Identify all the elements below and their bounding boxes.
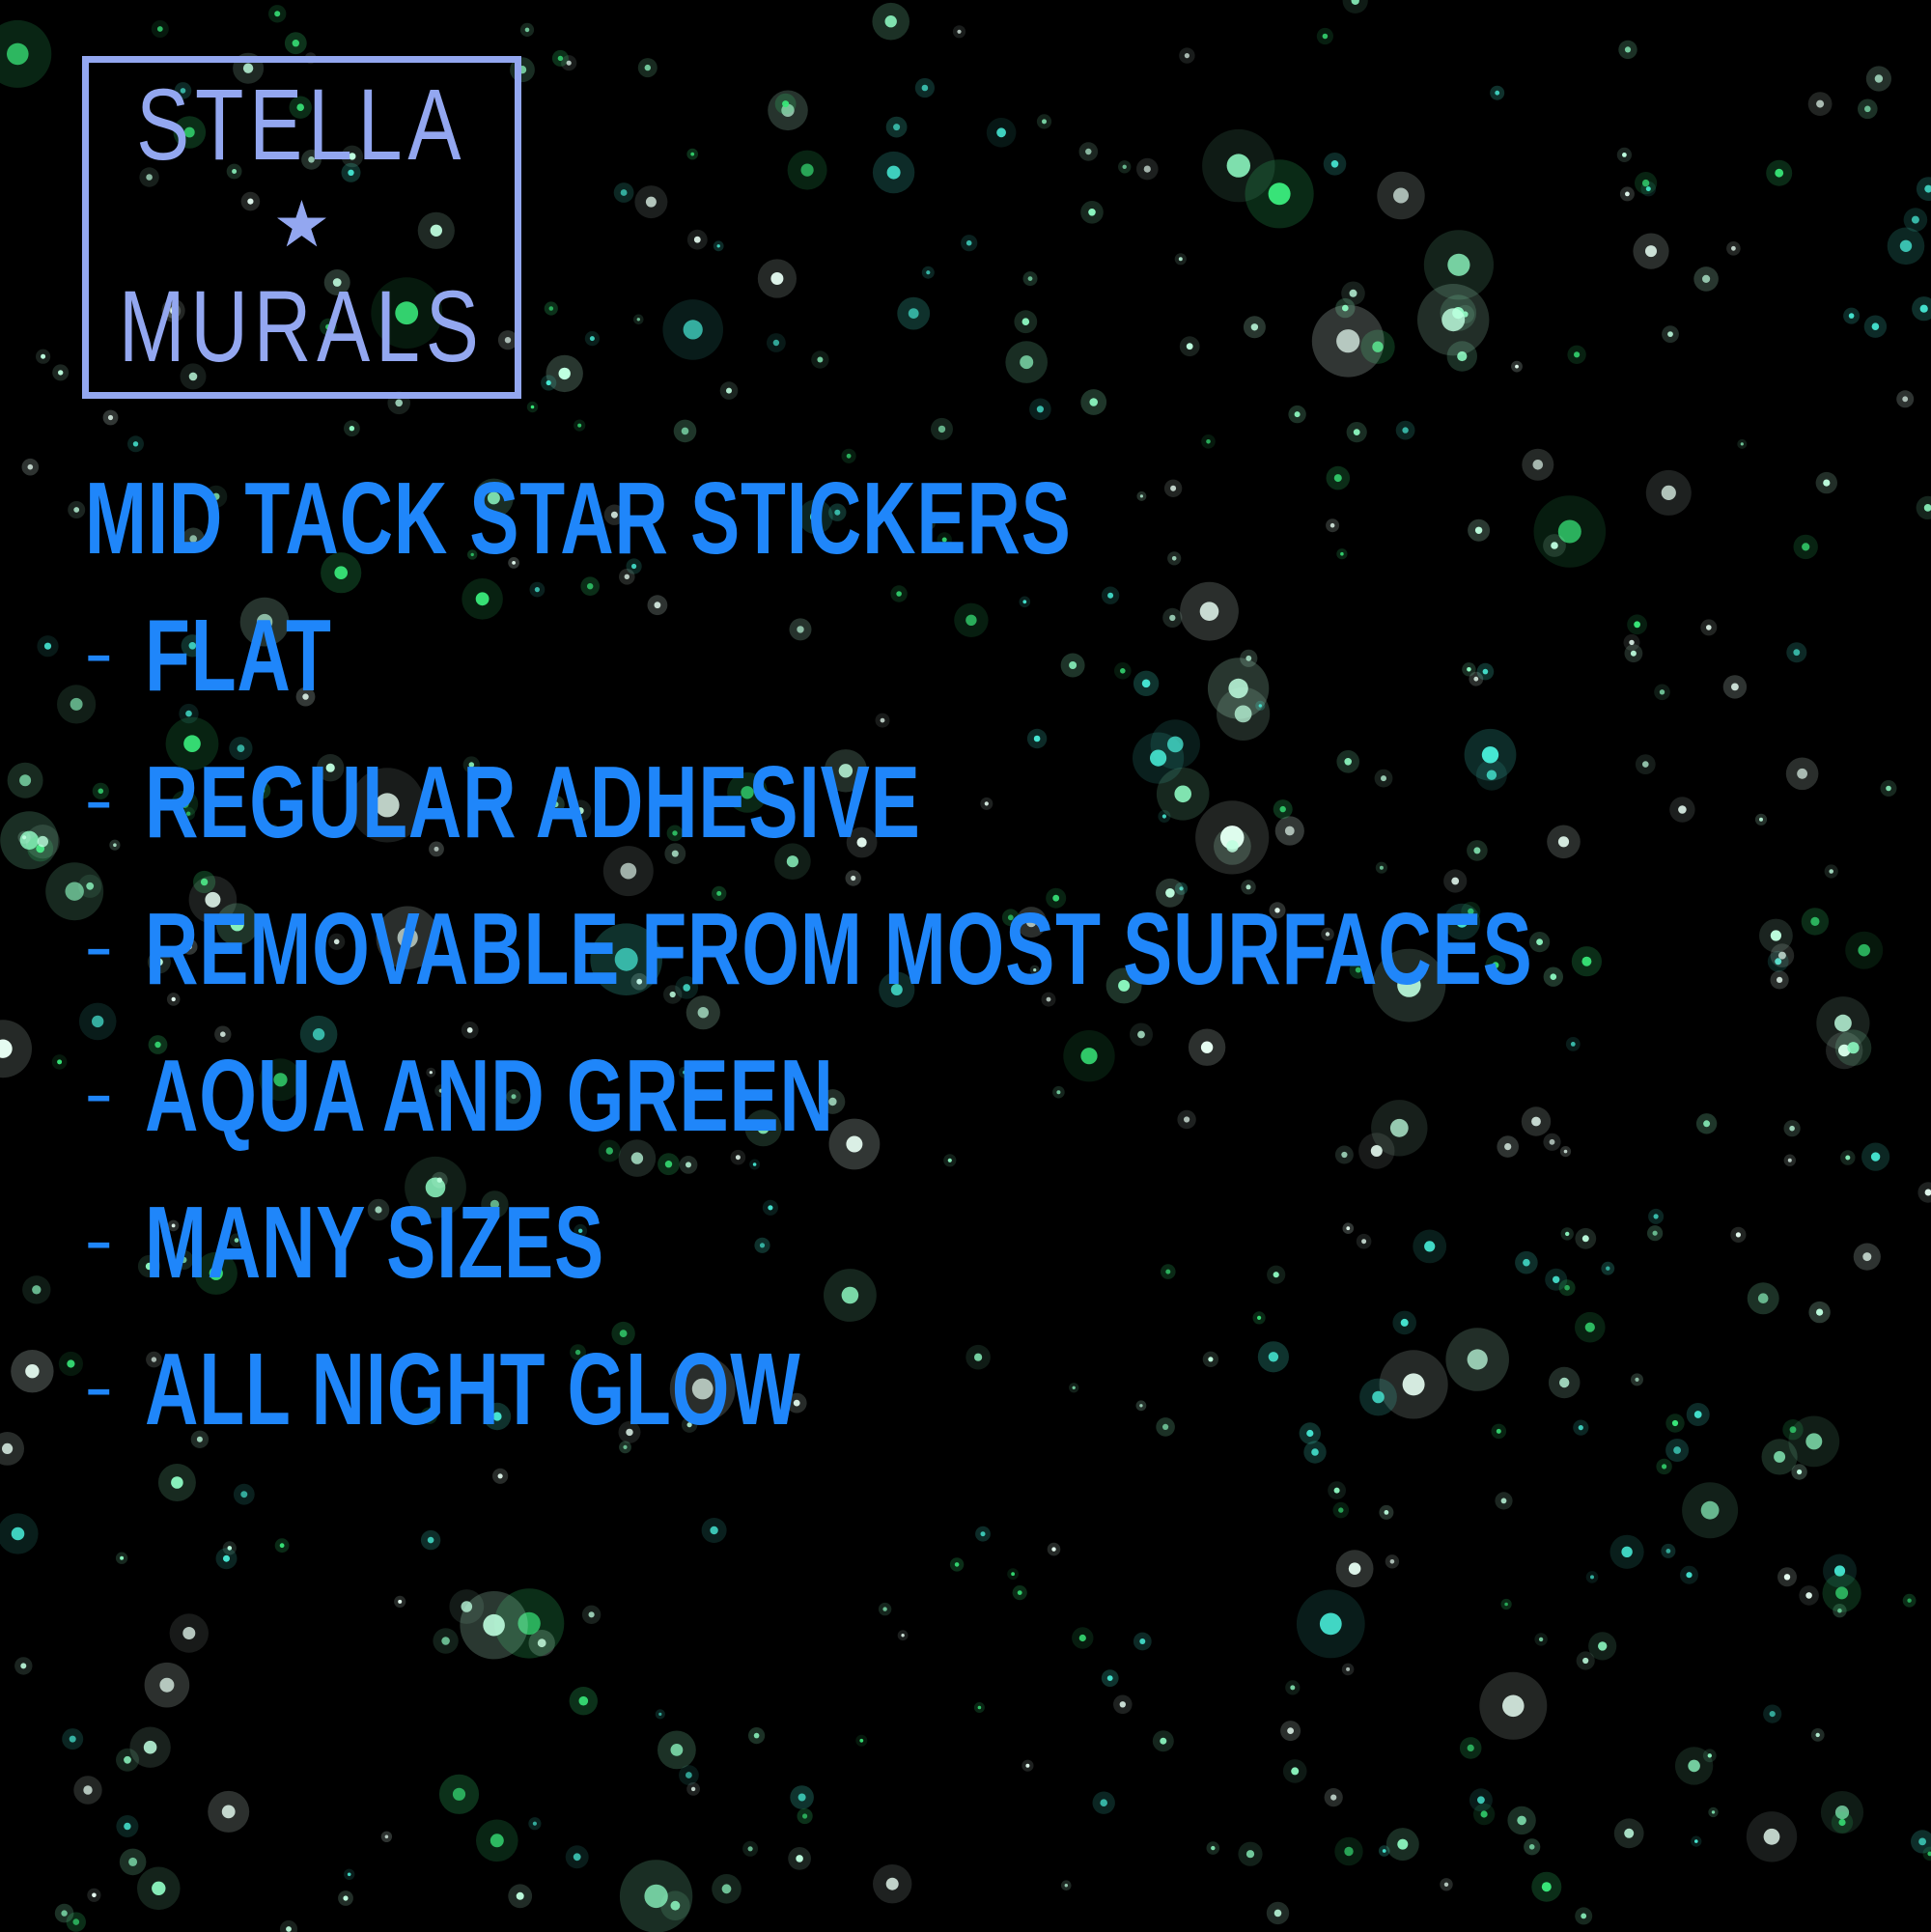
bullet-dash-icon: -: [85, 1218, 145, 1264]
feature-label: AQUA AND GREEN: [145, 1046, 834, 1148]
feature-label: REMOVABLE FROM MOST SURFACES: [145, 899, 1533, 1001]
list-item: -ALL NIGHT GLOW: [85, 1339, 1852, 1467]
list-item: -AQUA AND GREEN: [85, 1046, 1852, 1173]
list-item: -FLAT: [85, 605, 1852, 733]
bullet-dash-icon: -: [85, 925, 145, 970]
poster-canvas: STELLA ★ MURALS MID TACK STAR STICKERS -…: [0, 0, 1931, 1932]
logo-word-murals: MURALS: [119, 275, 485, 380]
list-item: -REGULAR ADHESIVE: [85, 752, 1852, 880]
logo-inner: STELLA ★ MURALS: [82, 56, 521, 399]
feature-list: -FLAT-REGULAR ADHESIVE-REMOVABLE FROM MO…: [85, 605, 1852, 1467]
bullet-dash-icon: -: [85, 1072, 145, 1117]
feature-label: FLAT: [145, 605, 332, 708]
star-icon: ★: [273, 192, 330, 256]
bullet-dash-icon: -: [85, 1365, 145, 1411]
feature-label: MANY SIZES: [145, 1192, 604, 1295]
page-title: MID TACK STAR STICKERS: [85, 468, 1498, 571]
feature-label: REGULAR ADHESIVE: [145, 752, 921, 854]
bullet-dash-icon: -: [85, 631, 145, 677]
bullet-dash-icon: -: [85, 778, 145, 824]
content-block: MID TACK STAR STICKERS -FLAT-REGULAR ADH…: [85, 468, 1852, 1486]
feature-label: ALL NIGHT GLOW: [145, 1339, 801, 1442]
logo-word-stella: STELLA: [136, 73, 466, 179]
list-item: -MANY SIZES: [85, 1192, 1852, 1320]
list-item: -REMOVABLE FROM MOST SURFACES: [85, 899, 1852, 1026]
brand-logo: STELLA ★ MURALS: [82, 56, 521, 399]
